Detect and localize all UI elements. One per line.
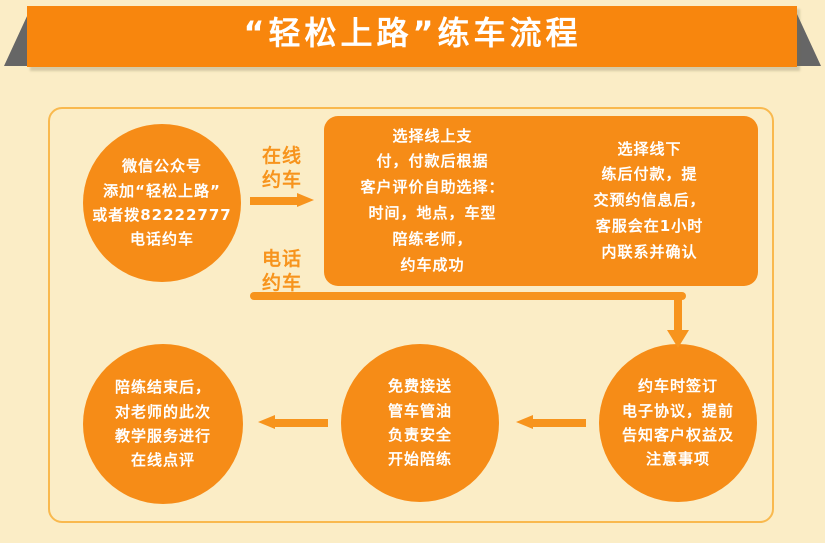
offline-option-line-4: 客服会在1小时 [596,214,703,240]
flow-node-agreement-line-4: 注意事项 [646,447,710,471]
online-option-line-5: 陪练老师， [392,227,472,253]
flow-node-service-line-1: 免费接送 [388,374,452,398]
online-option-line-2: 付，付款后根据 [376,149,488,175]
label-phone-booking-line-1: 电话 [262,248,302,270]
arrow-phone-booking-icon [250,292,686,352]
label-online-booking: 在线 约车 [252,145,312,193]
online-option-line-3: 客户评价自助选择： [360,175,504,201]
flow-node-agreement-line-3: 告知客户权益及 [622,423,734,447]
flow-node-service[interactable]: 免费接送 管车管油 负责安全 开始陪练 [341,344,499,502]
page-title: “轻松上路”练车流程 [0,0,825,67]
flow-node-review-line-1: 陪练结束后， [115,375,211,399]
flow-node-review[interactable]: 陪练结束后， 对老师的此次 教学服务进行 在线点评 [83,344,243,504]
label-phone-booking-line-2: 约车 [262,272,302,294]
connector-horizontal-segment [250,292,686,300]
connector-vertical-segment [674,292,682,334]
flow-node-wechat-line-1: 微信公众号 [122,154,202,178]
header-ribbon: “轻松上路”练车流程 [0,0,825,78]
offline-option-line-1: 选择线下 [617,137,681,163]
arrow-head [258,415,275,429]
online-option-line-6: 约车成功 [400,253,464,279]
online-option-line-4: 时间，地点，车型 [368,201,496,227]
offline-option-line-5: 内联系并确认 [601,240,697,266]
flow-node-review-line-2: 对老师的此次 [115,400,211,424]
flow-node-service-line-3: 负责安全 [388,423,452,447]
offline-option-line-2: 练后付款，提 [601,162,697,188]
flow-node-agreement-line-2: 电子协议，提前 [622,399,734,423]
flow-node-service-line-4: 开始陪练 [388,447,452,471]
flow-node-online-option: 选择线上支 付，付款后根据 客户评价自助选择： 时间，地点，车型 陪练老师， 约… [324,116,541,286]
arrow-shaft [274,419,328,427]
arrow-shaft [532,419,586,427]
label-online-booking-line-1: 在线 [262,145,302,167]
arrow-head [516,415,533,429]
offline-option-line-3: 交预约信息后， [593,188,705,214]
label-online-booking-line-2: 约车 [262,169,302,191]
flow-node-agreement-line-1: 约车时签订 [638,374,718,398]
flow-node-review-line-4: 在线点评 [131,448,195,472]
flow-node-agreement[interactable]: 约车时签订 电子协议，提前 告知客户权益及 注意事项 [599,344,757,502]
flow-node-booking-options[interactable]: 选择线上支 付，付款后根据 客户评价自助选择： 时间，地点，车型 陪练老师， 约… [324,116,758,286]
flow-node-wechat-line-3: 或者拨82222777 [92,203,232,227]
flow-node-service-line-2: 管车管油 [388,399,452,423]
flow-node-offline-option: 选择线下 练后付款，提 交预约信息后， 客服会在1小时 内联系并确认 [541,116,758,286]
flow-node-wechat-line-2: 添加“轻松上路” [103,179,221,203]
arrow-agreement-to-service-icon [516,415,586,429]
connector-arrow-head-down [667,330,689,348]
flow-node-review-line-3: 教学服务进行 [115,424,211,448]
flow-node-wechat-line-4: 电话约车 [130,227,194,251]
label-phone-booking: 电话 约车 [252,248,312,296]
arrow-online-booking-icon [250,193,314,207]
online-option-line-1: 选择线上支 [392,124,472,150]
arrow-head [297,193,314,207]
arrow-shaft [250,197,300,205]
flow-node-wechat[interactable]: 微信公众号 添加“轻松上路” 或者拨82222777 电话约车 [83,124,241,282]
arrow-service-to-review-icon [258,415,328,429]
